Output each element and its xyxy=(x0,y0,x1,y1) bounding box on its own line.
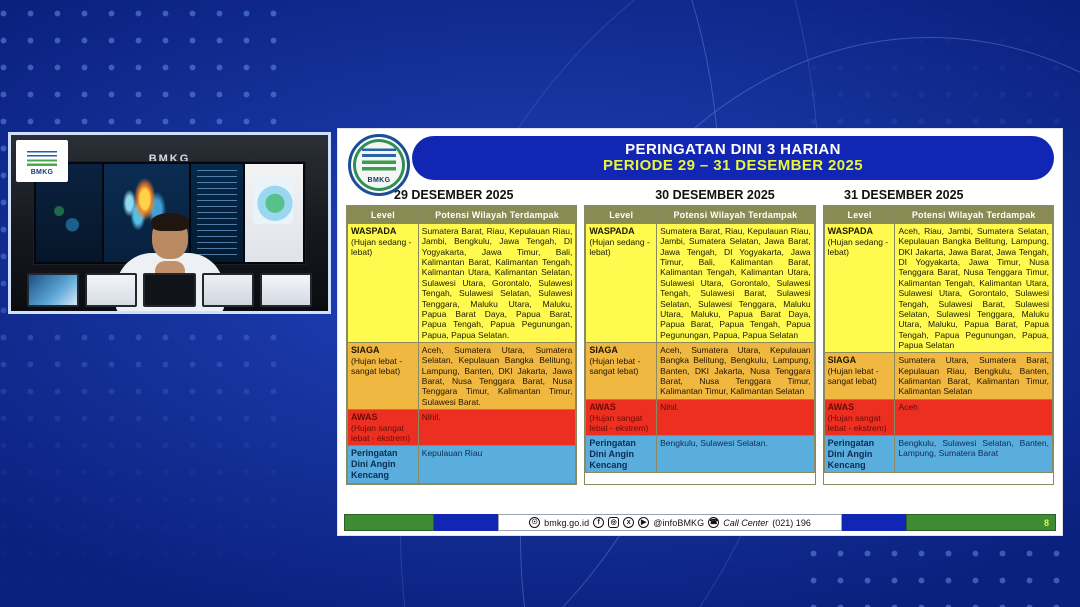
level-name: SIAGA xyxy=(828,355,892,366)
warning-tables-container: Level Potensi Wilayah Terdampak WASPADA … xyxy=(344,205,1056,485)
warning-table-day2: Level Potensi Wilayah Terdampak WASPADA … xyxy=(584,205,815,485)
table-row-awas: AWAS (Hujan sangat lebat - ekstrem) Nihi… xyxy=(586,399,814,435)
level-cell-waspada: WASPADA (Hujan sedang - lebat) xyxy=(586,224,657,343)
col-header-level: Level xyxy=(824,207,895,224)
level-name: WASPADA xyxy=(351,226,415,237)
col-header-region: Potensi Wilayah Terdampak xyxy=(657,207,815,224)
footer-blue-block-right xyxy=(842,514,906,531)
level-desc: (Hujan lebat - sangat lebat) xyxy=(828,366,879,386)
table-row-waspada: WASPADA (Hujan sedang - lebat) Aceh, Ria… xyxy=(824,224,1052,353)
level-desc: (Hujan sedang - lebat) xyxy=(351,237,411,257)
desk-monitors xyxy=(27,259,312,307)
region-cell-waspada: Sumatera Barat, Riau, Kepulauan Riau, Ja… xyxy=(657,224,815,343)
level-desc: (Hujan sangat lebat - ekstrem) xyxy=(828,413,887,433)
bmkg-seal-logo: BMKG xyxy=(348,134,410,196)
table-row-awas: AWAS (Hujan sangat lebat - ekstrem) Aceh xyxy=(824,399,1052,435)
level-name: Peringatan Dini Angin Kencang xyxy=(351,448,415,480)
region-cell-awas: Nihil. xyxy=(418,410,576,446)
page-number: 8 xyxy=(1044,518,1049,528)
level-desc: (Hujan lebat - sangat lebat) xyxy=(589,356,640,376)
level-cell-waspada: WASPADA (Hujan sedang - lebat) xyxy=(348,224,419,343)
region-cell-angin-kencang: Bengkulu, Sulawesi Selatan, Banten, Lamp… xyxy=(895,435,1053,472)
level-cell-siaga: SIAGA (Hujan lebat - sangat lebat) xyxy=(348,342,419,409)
level-cell-awas: AWAS (Hujan sangat lebat - ekstrem) xyxy=(824,399,895,435)
table-row-angin-kencang: Peringatan Dini Angin Kencang Bengkulu, … xyxy=(824,435,1052,472)
presenter-video-panel[interactable]: BMKG BMKG xyxy=(8,132,331,314)
slide-title-bar: PERINGATAN DINI 3 HARIAN PERIODE 29 – 31… xyxy=(412,136,1054,180)
level-desc: (Hujan sedang - lebat) xyxy=(828,237,888,257)
desk-monitor xyxy=(27,273,79,307)
table-row-waspada: WASPADA (Hujan sedang - lebat) Sumatera … xyxy=(348,224,576,343)
region-cell-awas: Aceh xyxy=(895,399,1053,435)
x-twitter-icon[interactable]: x xyxy=(623,517,634,528)
level-name: WASPADA xyxy=(828,226,892,237)
globe-icon[interactable]: ☉ xyxy=(529,517,540,528)
page-title: PERINGATAN DINI 3 HARIAN xyxy=(625,142,841,158)
region-cell-siaga: Sumatera Utara, Sumatera Barat, Kepulaua… xyxy=(895,353,1053,399)
region-cell-waspada: Sumatera Barat, Riau, Kepulauan Riau, Ja… xyxy=(418,224,576,343)
call-center-number: (021) 196 xyxy=(772,518,811,528)
level-name: Peringatan Dini Angin Kencang xyxy=(589,438,653,470)
level-cell-siaga: SIAGA (Hujan lebat - sangat lebat) xyxy=(824,353,895,399)
level-name: WASPADA xyxy=(589,226,653,237)
footer-green-block-left xyxy=(344,514,434,531)
desk-monitor xyxy=(143,273,195,307)
level-desc: (Hujan sangat lebat - ekstrem) xyxy=(351,423,410,443)
col-header-level: Level xyxy=(348,207,419,224)
bmkg-seal-mark-icon xyxy=(362,146,396,176)
level-cell-awas: AWAS (Hujan sangat lebat - ekstrem) xyxy=(586,399,657,435)
level-cell-angin-kencang: Peringatan Dini Angin Kencang xyxy=(824,435,895,472)
table-row-siaga: SIAGA (Hujan lebat - sangat lebat) Aceh,… xyxy=(348,342,576,409)
level-cell-angin-kencang: Peringatan Dini Angin Kencang xyxy=(586,435,657,472)
slide-header: BMKG PERINGATAN DINI 3 HARIAN PERIODE 29… xyxy=(344,134,1056,182)
youtube-icon[interactable]: ▶ xyxy=(638,517,649,528)
date-header-row: 29 DESEMBER 2025 30 DESEMBER 2025 31 DES… xyxy=(344,182,1056,205)
level-cell-angin-kencang: Peringatan Dini Angin Kencang xyxy=(348,446,419,483)
table-header-row: Level Potensi Wilayah Terdampak xyxy=(348,207,576,224)
table-row-waspada: WASPADA (Hujan sedang - lebat) Sumatera … xyxy=(586,224,814,343)
region-cell-waspada: Aceh, Riau, Jambi, Sumatera Selatan, Kep… xyxy=(895,224,1053,353)
col-header-level: Level xyxy=(586,207,657,224)
bmkg-seal-text: BMKG xyxy=(368,177,391,184)
desk-monitor xyxy=(202,273,254,307)
slide-footer: ☉ bmkg.go.id f ◎ x ▶ @infoBMKG ☎ Call Ce… xyxy=(344,514,1056,531)
region-cell-siaga: Aceh, Sumatera Utara, Sumatera Selatan, … xyxy=(418,342,576,409)
region-cell-siaga: Aceh, Sumatera Utara, Kepulauan Bangka B… xyxy=(657,342,815,399)
level-desc: (Hujan sedang - lebat) xyxy=(589,237,649,257)
page-subtitle: PERIODE 29 – 31 DESEMBER 2025 xyxy=(603,158,863,174)
table-header-row: Level Potensi Wilayah Terdampak xyxy=(586,207,814,224)
table-row-angin-kencang: Peringatan Dini Angin Kencang Bengkulu, … xyxy=(586,435,814,472)
bmkg-logo-mark-icon xyxy=(27,147,57,169)
table-header-row: Level Potensi Wilayah Terdampak xyxy=(824,207,1052,224)
level-name: Peringatan Dini Angin Kencang xyxy=(828,438,892,470)
level-cell-awas: AWAS (Hujan sangat lebat - ekstrem) xyxy=(348,410,419,446)
level-name: AWAS xyxy=(828,402,892,413)
level-name: SIAGA xyxy=(589,345,653,356)
presenter-hair xyxy=(151,213,189,231)
footer-green-block-right: 8 xyxy=(906,514,1056,531)
level-cell-siaga: SIAGA (Hujan lebat - sangat lebat) xyxy=(586,342,657,399)
date-header-day3: 31 DESEMBER 2025 xyxy=(826,188,1054,202)
instagram-icon[interactable]: ◎ xyxy=(608,517,619,528)
level-desc: (Hujan sangat lebat - ekstrem) xyxy=(589,413,648,433)
table-row-angin-kencang: Peringatan Dini Angin Kencang Kepulauan … xyxy=(348,446,576,483)
desk-monitor xyxy=(260,273,312,307)
presentation-slide: BMKG PERINGATAN DINI 3 HARIAN PERIODE 29… xyxy=(337,128,1063,536)
website-url[interactable]: bmkg.go.id xyxy=(544,518,589,528)
region-cell-awas: Nihil. xyxy=(657,399,815,435)
videowall-chart-panel xyxy=(245,164,303,262)
footer-blue-block-left xyxy=(434,514,498,531)
region-cell-angin-kencang: Kepulauan Riau xyxy=(418,446,576,483)
region-cell-angin-kencang: Bengkulu, Sulawesi Selatan. xyxy=(657,435,815,472)
level-desc: (Hujan lebat - sangat lebat) xyxy=(351,356,402,376)
bmkg-watermark-logo: BMKG xyxy=(16,140,68,182)
table-row-siaga: SIAGA (Hujan lebat - sangat lebat) Sumat… xyxy=(824,353,1052,399)
call-center-label: Call Center xyxy=(723,518,768,528)
bmkg-logo-text: BMKG xyxy=(31,169,54,176)
facebook-icon[interactable]: f xyxy=(593,517,604,528)
table-row-siaga: SIAGA (Hujan lebat - sangat lebat) Aceh,… xyxy=(586,342,814,399)
table-row-awas: AWAS (Hujan sangat lebat - ekstrem) Nihi… xyxy=(348,410,576,446)
footer-contact-bar: ☉ bmkg.go.id f ◎ x ▶ @infoBMKG ☎ Call Ce… xyxy=(498,514,842,531)
level-cell-waspada: WASPADA (Hujan sedang - lebat) xyxy=(824,224,895,353)
level-name: AWAS xyxy=(351,412,415,423)
warning-table-day3: Level Potensi Wilayah Terdampak WASPADA … xyxy=(823,205,1054,485)
desk-monitor xyxy=(85,273,137,307)
col-header-region: Potensi Wilayah Terdampak xyxy=(895,207,1053,224)
warning-table-day1: Level Potensi Wilayah Terdampak WASPADA … xyxy=(346,205,577,485)
level-name: SIAGA xyxy=(351,345,415,356)
phone-icon[interactable]: ☎ xyxy=(708,517,719,528)
date-header-day2: 30 DESEMBER 2025 xyxy=(610,188,820,202)
social-handle[interactable]: @infoBMKG xyxy=(653,518,704,528)
level-name: AWAS xyxy=(589,402,653,413)
col-header-region: Potensi Wilayah Terdampak xyxy=(418,207,576,224)
